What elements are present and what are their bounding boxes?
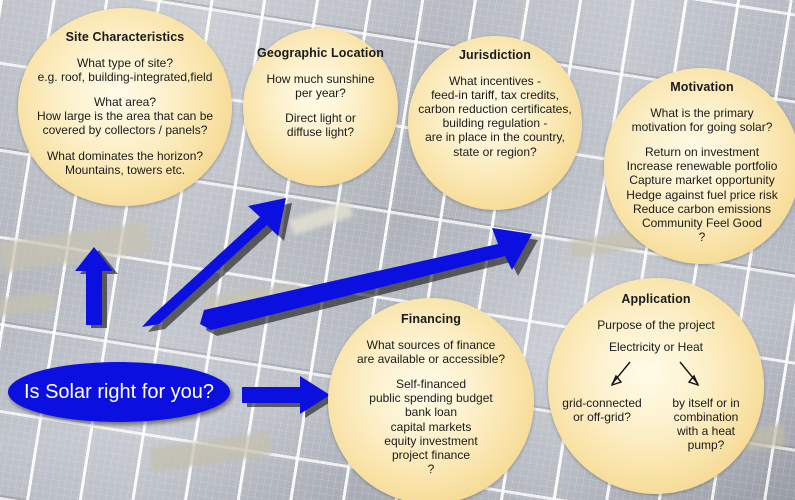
bubble-line: grid-connected (550, 396, 654, 410)
bubble-line: Purpose of the project (550, 318, 762, 332)
arrow-down-right-to-heat-option (676, 360, 706, 390)
bubble-motivation[interactable]: Motivation What is the primary motivatio… (604, 68, 795, 264)
application-branch-left: grid-connected or off-grid? (550, 396, 654, 424)
bubble-line: How large is the area that can be (22, 109, 228, 123)
bubble-line: What incentives - (410, 74, 580, 88)
bubble-line: equity investment (330, 434, 532, 448)
bubble-line: What sources of finance (330, 338, 532, 352)
bubble-line: building regulation - (410, 116, 580, 130)
bubble-application[interactable]: Application Purpose of the project Elect… (548, 278, 764, 494)
bubble-financing[interactable]: Financing What sources of finance are av… (328, 298, 534, 500)
bubble-line: with a heat (658, 424, 754, 438)
solar-decision-diagram: Site Characteristics What type of site? … (0, 0, 795, 500)
bubble-line: are in place in the country, (410, 130, 580, 144)
bubble-site-characteristics[interactable]: Site Characteristics What type of site? … (18, 8, 232, 206)
start-node-is-solar-right-for-you[interactable]: Is Solar right for you? (8, 362, 230, 422)
bubble-line: How much sunshine (247, 72, 394, 86)
bubble-line: per year? (247, 86, 394, 100)
bubble-title: Financing (330, 312, 532, 327)
bubble-line: combination (658, 410, 754, 424)
bubble-title: Motivation (606, 80, 795, 95)
bubble-line: What type of site? (22, 56, 228, 70)
bubble-line: or off-grid? (550, 410, 654, 424)
bubble-line: Increase renewable portfolio (606, 159, 795, 173)
bubble-line: covered by collectors / panels? (22, 123, 228, 137)
bubble-line: carbon reduction certificates, (410, 102, 580, 116)
bubble-line: Mountains, towers etc. (22, 163, 228, 177)
bubble-title: Application (550, 292, 762, 307)
bubble-line: feed-in tariff, tax credits, (410, 88, 580, 102)
bubble-line: Hedge against fuel price risk (606, 188, 795, 202)
arrow-up-to-site-characteristics (70, 244, 120, 328)
bubble-title: Jurisdiction (410, 48, 580, 63)
bubble-jurisdiction[interactable]: Jurisdiction What incentives - feed-in t… (408, 36, 582, 210)
bubble-line: are available or accessible? (330, 352, 532, 366)
bubble-line: Self-financed (330, 377, 532, 391)
bubble-line: ? (606, 230, 795, 244)
bubble-title: Site Characteristics (22, 30, 228, 45)
bubble-line: What dominates the horizon? (22, 149, 228, 163)
bubble-line: diffuse light? (247, 125, 394, 139)
bubble-geographic-location[interactable]: Geographic Location How much sunshine pe… (243, 28, 398, 186)
bubble-line: Capture market opportunity (606, 173, 795, 187)
bubble-line: by itself or in (658, 396, 754, 410)
bubble-title: Geographic Location (247, 46, 394, 61)
bubble-line: project finance (330, 448, 532, 462)
bubble-line: Electricity or Heat (550, 340, 762, 354)
bubble-line: ? (330, 462, 532, 476)
start-node-label: Is Solar right for you? (24, 381, 214, 404)
bubble-line: e.g. roof, building-integrated,field (22, 70, 228, 84)
bubble-line: capital markets (330, 420, 532, 434)
bubble-line: bank loan (330, 405, 532, 419)
bubble-line: pump? (658, 438, 754, 452)
application-branch-right: by itself or in combination with a heat … (658, 396, 754, 453)
bubble-line: What is the primary (606, 106, 795, 120)
arrow-right-to-financing (240, 374, 338, 424)
arrow-down-left-to-grid-option (604, 360, 634, 390)
bubble-line: Reduce carbon emissions (606, 202, 795, 216)
bubble-line: public spending budget (330, 391, 532, 405)
bubble-line: Return on investment (606, 145, 795, 159)
bubble-line: Community Feel Good (606, 216, 795, 230)
bubble-line: motivation for going solar? (606, 120, 795, 134)
bubble-line: What area? (22, 95, 228, 109)
bubble-line: Direct light or (247, 111, 394, 125)
bubble-line: state or region? (410, 145, 580, 159)
